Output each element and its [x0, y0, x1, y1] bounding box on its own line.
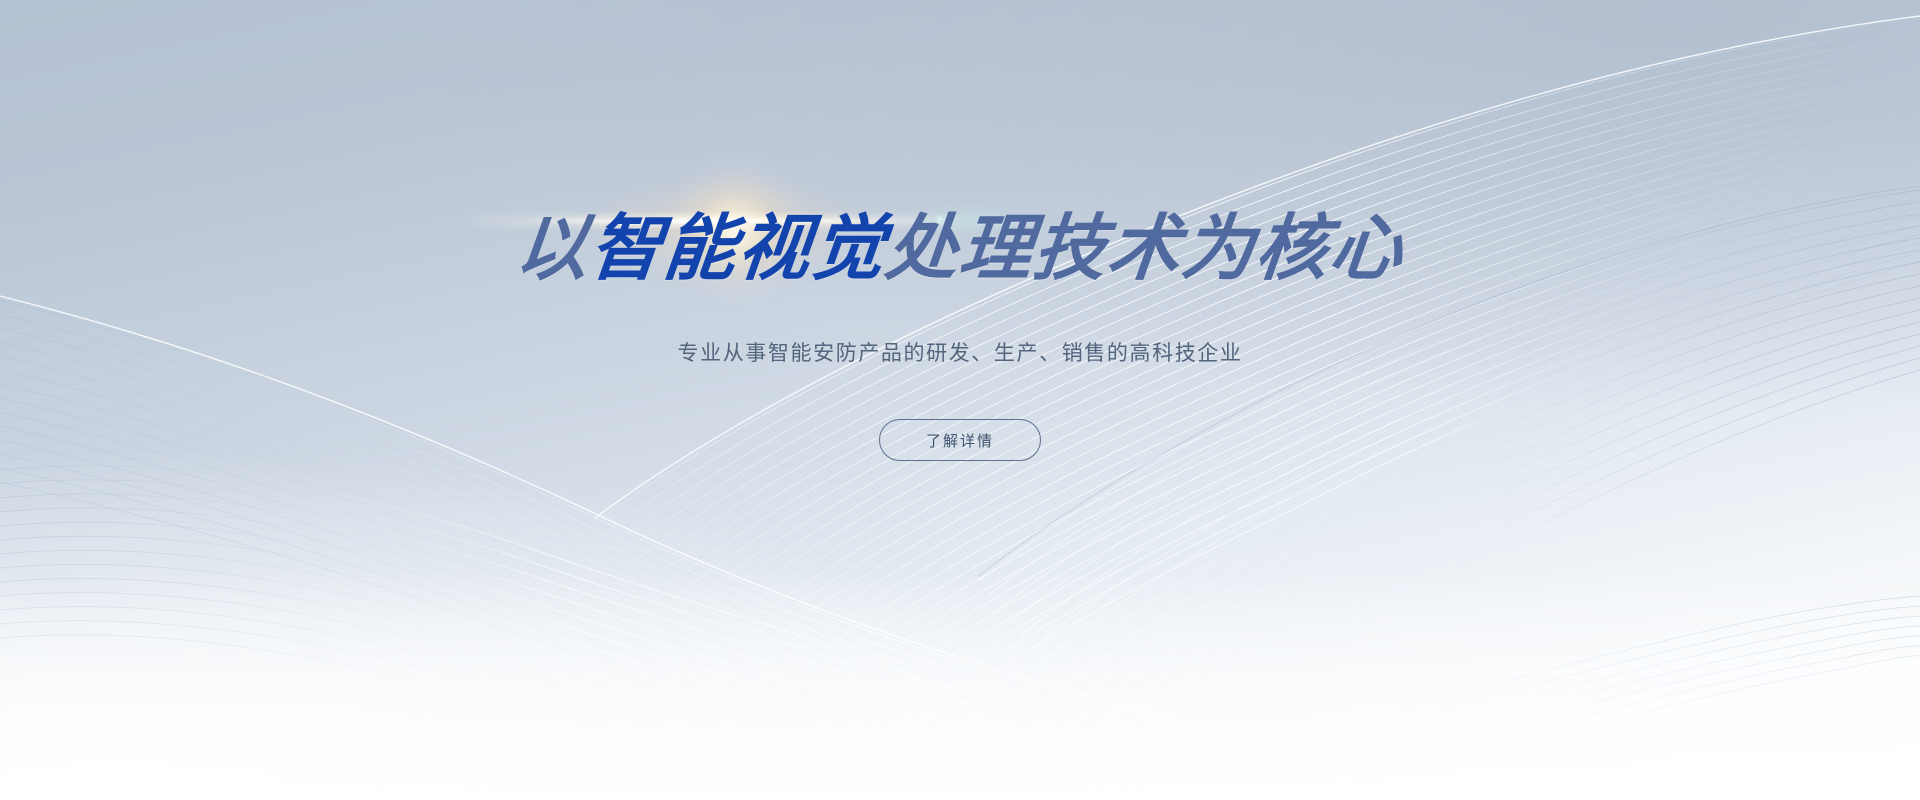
hero-content: 以智能视觉处理技术为核心 专业从事智能安防产品的研发、生产、销售的高科技企业 了… [0, 0, 1920, 800]
headline-segment-3: 处理技术为核心 [882, 213, 1408, 285]
hero-banner: 以智能视觉处理技术为核心 专业从事智能安防产品的研发、生产、销售的高科技企业 了… [0, 0, 1920, 800]
learn-more-button[interactable]: 了解详情 [879, 419, 1041, 461]
headline-segment-1: 以 [512, 213, 594, 285]
headline-segment-2: 智能视觉 [586, 213, 890, 285]
hero-cta-wrapper: 了解详情 [879, 419, 1041, 461]
hero-subtitle: 专业从事智能安防产品的研发、生产、销售的高科技企业 [678, 337, 1243, 367]
hero-headline: 以智能视觉处理技术为核心 [512, 213, 1408, 285]
